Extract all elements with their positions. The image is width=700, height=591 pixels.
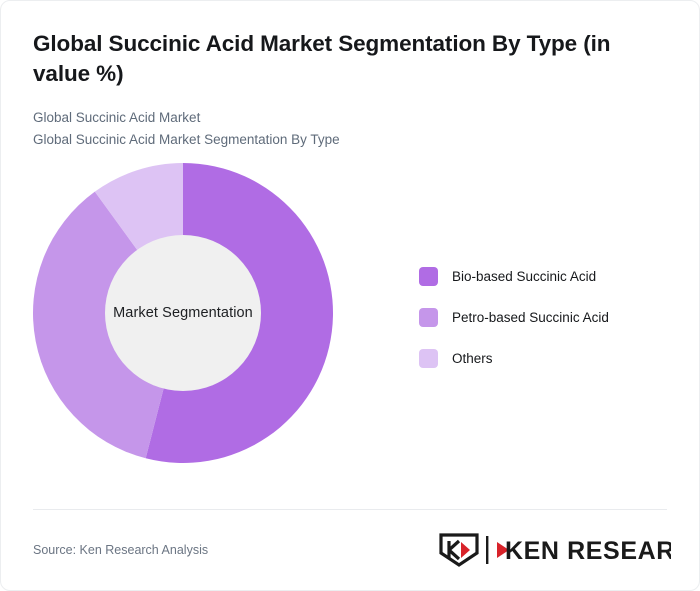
legend-label: Others: [452, 351, 493, 366]
subtitle-block: Global Succinic Acid Market Global Succi…: [33, 107, 659, 151]
chart-card: Global Succinic Acid Market Segmentation…: [0, 0, 700, 591]
logo-divider: [486, 536, 488, 564]
chart-legend: Bio-based Succinic AcidPetro-based Succi…: [419, 256, 669, 379]
subtitle-market: Global Succinic Acid Market: [33, 107, 659, 129]
ken-research-logo: KEN RESEARCH: [439, 533, 671, 567]
logo-svg: KEN RESEARCH: [439, 533, 671, 567]
chart-footer: Source: Ken Research Analysis KEN RESEAR…: [33, 528, 671, 572]
legend-item[interactable]: Petro-based Succinic Acid: [419, 297, 669, 338]
chart-header: Global Succinic Acid Market Segmentation…: [1, 1, 699, 151]
chart-body: Market Segmentation Bio-based Succinic A…: [1, 151, 699, 481]
subtitle-segmentation: Global Succinic Acid Market Segmentation…: [33, 129, 659, 151]
legend-swatch-icon: [419, 349, 438, 368]
donut-hole: [105, 235, 261, 391]
legend-label: Petro-based Succinic Acid: [452, 310, 609, 325]
donut-chart: Market Segmentation: [33, 163, 333, 463]
logo-wordmark: KEN RESEARCH: [505, 537, 671, 565]
page-title: Global Succinic Acid Market Segmentation…: [33, 29, 659, 89]
legend-item[interactable]: Bio-based Succinic Acid: [419, 256, 669, 297]
legend-swatch-icon: [419, 308, 438, 327]
logo-shield-icon: [441, 535, 477, 565]
legend-swatch-icon: [419, 267, 438, 286]
source-label: Source: Ken Research Analysis: [33, 543, 208, 557]
legend-item[interactable]: Others: [419, 338, 669, 379]
footer-divider: [33, 509, 667, 510]
donut-svg: [33, 163, 333, 463]
legend-label: Bio-based Succinic Acid: [452, 269, 596, 284]
